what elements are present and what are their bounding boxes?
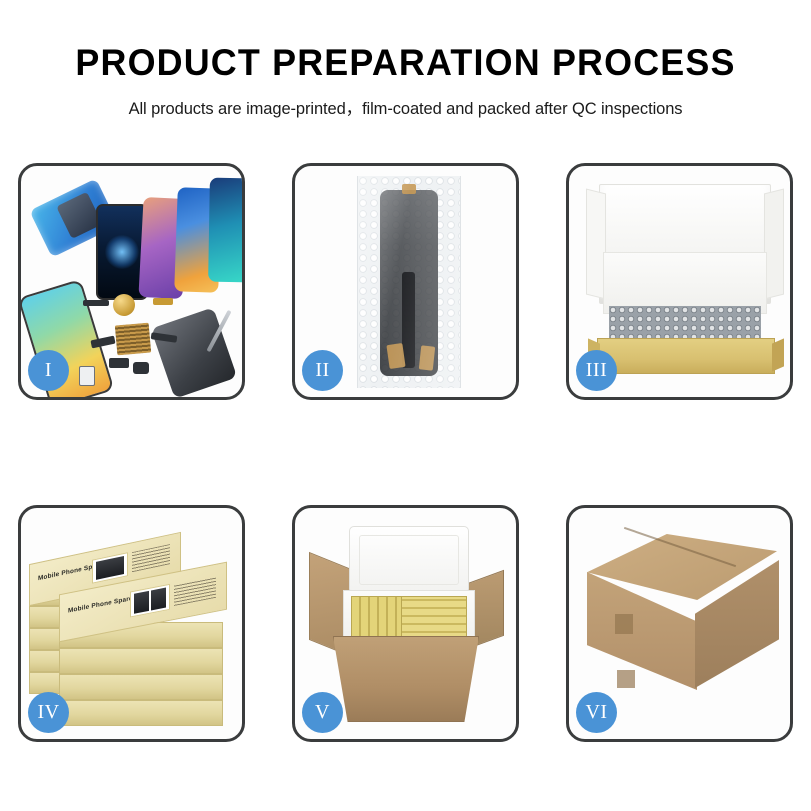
carton-body-graphic — [333, 636, 479, 722]
step-badge-5: V — [302, 692, 343, 733]
kraft-tray-graphic — [597, 338, 775, 374]
chip-grid-graphic — [115, 323, 151, 356]
bubble-wrap-sleeve-graphic — [357, 176, 461, 388]
packed-boxes-graphic — [401, 596, 467, 640]
coil-component-graphic — [113, 294, 135, 316]
step-panel-3: III — [566, 163, 793, 400]
camera-module-graphic — [133, 362, 149, 374]
step-panel-1: I — [18, 163, 245, 400]
retail-box — [59, 674, 223, 700]
step-panel-5: V — [292, 505, 519, 742]
box-spec-lines — [132, 544, 170, 572]
process-steps-grid: I II III — [18, 163, 793, 742]
foam-sheet-graphic — [603, 252, 767, 314]
phone-graphic-teal — [208, 178, 242, 283]
step-badge-6: VI — [576, 692, 617, 733]
carton-tape-mark — [615, 614, 633, 634]
step-badge-1: I — [28, 350, 69, 391]
carton-tape-mark — [617, 670, 635, 688]
product-preparation-infographic: PRODUCT PREPARATION PROCESS All products… — [0, 0, 811, 811]
page-subtitle: All products are image-printed，film-coat… — [0, 95, 811, 119]
speaker-module-graphic — [109, 358, 129, 368]
sim-tray-graphic — [79, 366, 95, 386]
flex-cable-graphic — [83, 300, 109, 306]
foam-lid-graphic — [349, 526, 469, 594]
step-panel-4: Mobile Phone Spare Parts Mobile Phone Sp… — [18, 505, 245, 742]
page-title: PRODUCT PREPARATION PROCESS — [12, 44, 799, 83]
step-badge-3: III — [576, 350, 617, 391]
box-thumbnail — [130, 584, 170, 618]
box-thumbnail — [92, 552, 128, 584]
bubble-wrap-sheen — [358, 176, 460, 388]
retail-box — [59, 648, 223, 674]
bubble-wrap-fill-graphic — [609, 306, 761, 342]
step-panel-2: II — [292, 163, 519, 400]
box-spec-lines — [174, 576, 216, 606]
header: PRODUCT PREPARATION PROCESS All products… — [0, 0, 811, 119]
flex-cable-graphic — [153, 298, 173, 305]
retail-box — [59, 700, 223, 726]
step-badge-2: II — [302, 350, 343, 391]
step-badge-4: IV — [28, 692, 69, 733]
step-panel-6: VI — [566, 505, 793, 742]
